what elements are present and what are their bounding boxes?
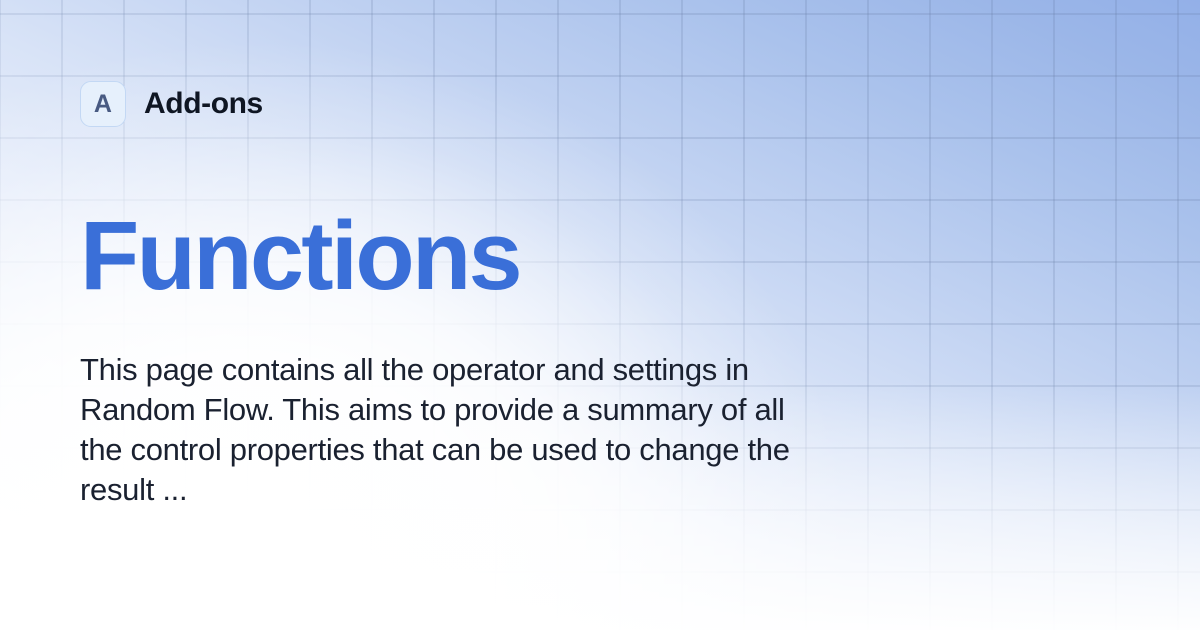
page-description: This page contains all the operator and … bbox=[80, 350, 820, 510]
section-label: Add-ons bbox=[144, 87, 263, 121]
breadcrumb-eyebrow: A Add-ons bbox=[80, 81, 263, 127]
page-title: Functions bbox=[80, 207, 520, 304]
card-content: A Add-ons Functions This page contains a… bbox=[0, 0, 1200, 630]
letter-a-badge-icon: A bbox=[80, 81, 126, 127]
og-card: A Add-ons Functions This page contains a… bbox=[0, 0, 1200, 630]
